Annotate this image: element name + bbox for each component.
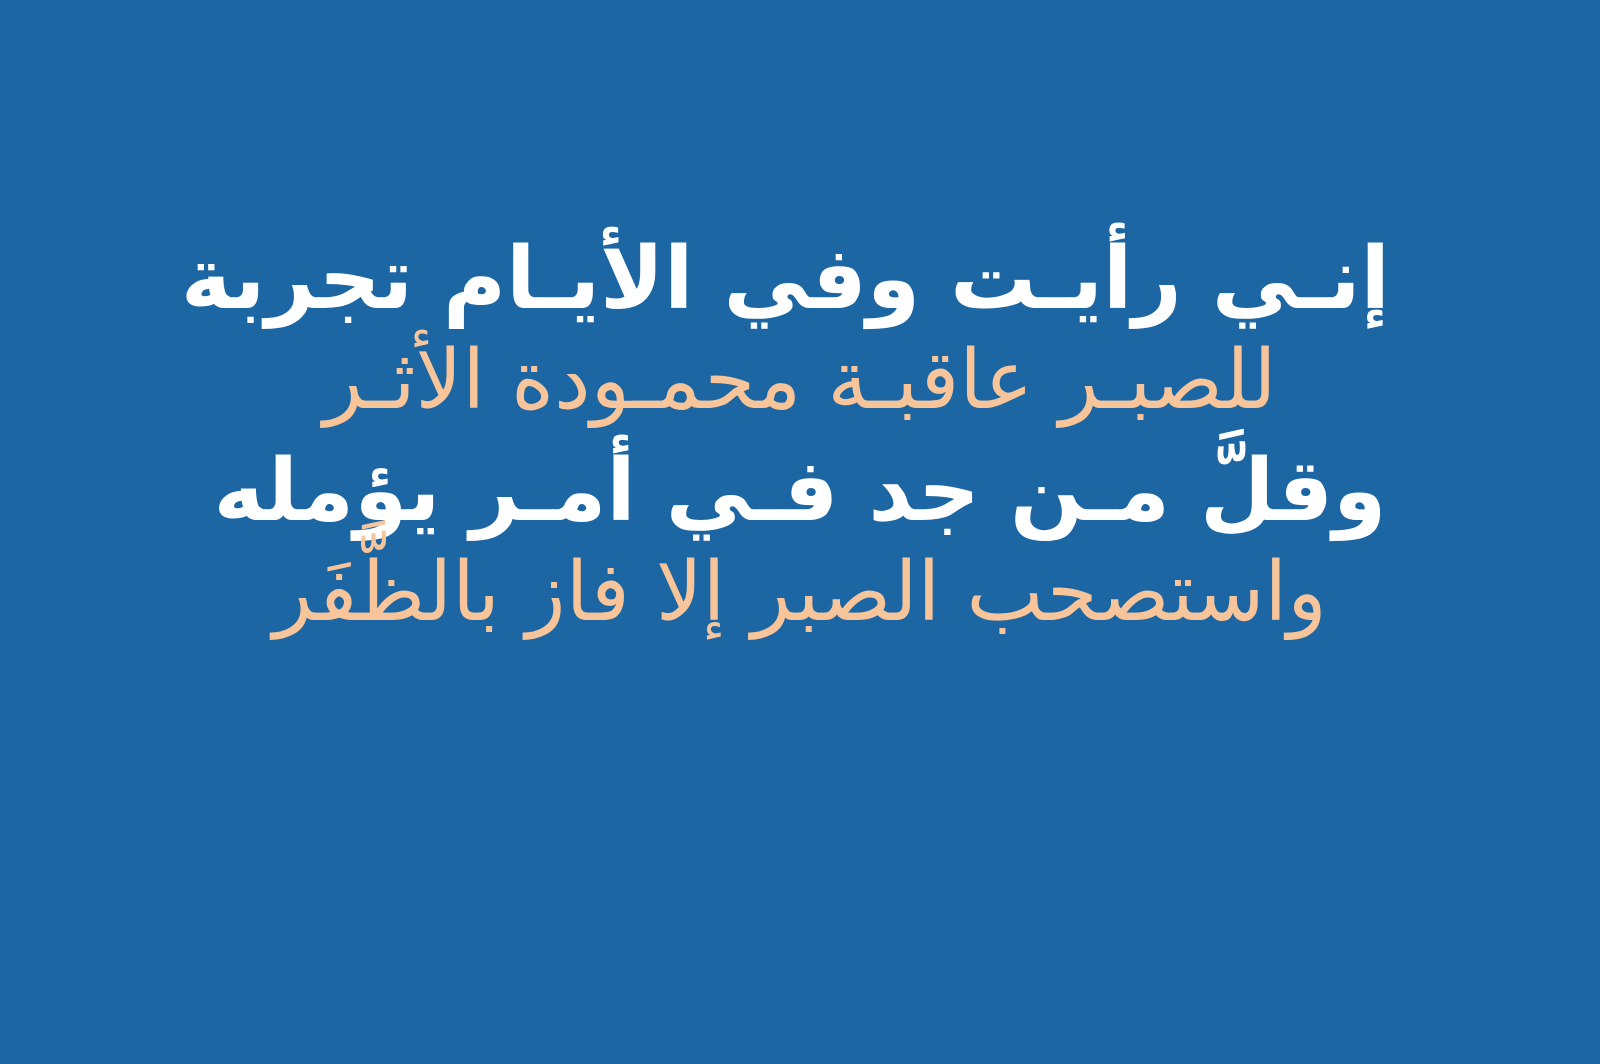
poem-line-4: واستصحب الصبر إلا فاز بالظَّفَر <box>210 552 1390 634</box>
poem-line-1: إنـي رأيـت وفي الأيـام تجربة <box>210 236 1390 322</box>
type-specimen-poster: إنـي رأيـت وفي الأيـام تجربة للصبـر عاقب… <box>0 0 1600 1064</box>
poem-line-2: للصبـر عاقبـة محمـودة الأثـر <box>210 340 1390 422</box>
poem-block: إنـي رأيـت وفي الأيـام تجربة للصبـر عاقب… <box>0 236 1600 634</box>
poem-line-3: وقلَّ مـن جد فـي أمـر يؤمله <box>210 448 1390 534</box>
